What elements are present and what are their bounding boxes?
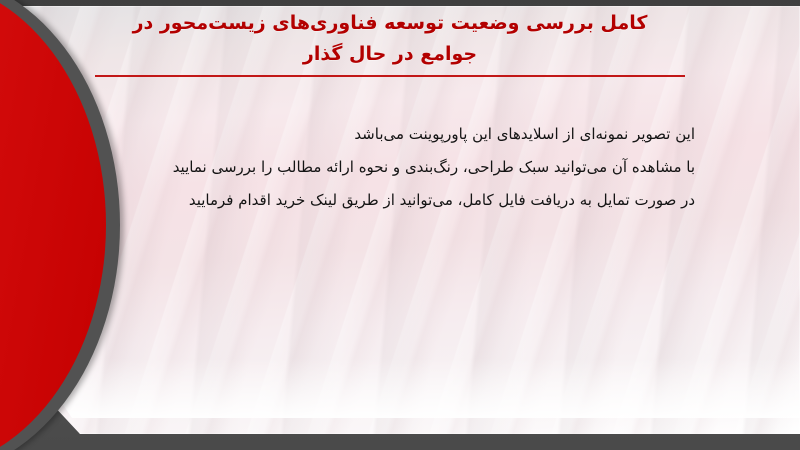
slide-body-text: این تصویر نمونه‌ای از اسلایدهای این پاور… [95, 118, 695, 217]
body-text-line-2: با مشاهده آن می‌توانید سبک طراحی، رنگ‌بن… [95, 151, 695, 184]
presentation-slide: کامل بررسی وضعیت توسعه فناوری‌های زیست‌م… [0, 0, 800, 450]
body-text-line-3: در صورت تمایل به دریافت فایل کامل، می‌تو… [95, 184, 695, 217]
slide-title: کامل بررسی وضعیت توسعه فناوری‌های زیست‌م… [80, 8, 700, 77]
panel-bottom-highlight [0, 358, 800, 418]
slide-title-line-2: جوامع در حال گذار [80, 39, 700, 70]
slide-title-line-1: کامل بررسی وضعیت توسعه فناوری‌های زیست‌م… [80, 8, 700, 39]
body-text-line-1: این تصویر نمونه‌ای از اسلایدهای این پاور… [95, 118, 695, 151]
title-underline-rule [95, 75, 685, 77]
